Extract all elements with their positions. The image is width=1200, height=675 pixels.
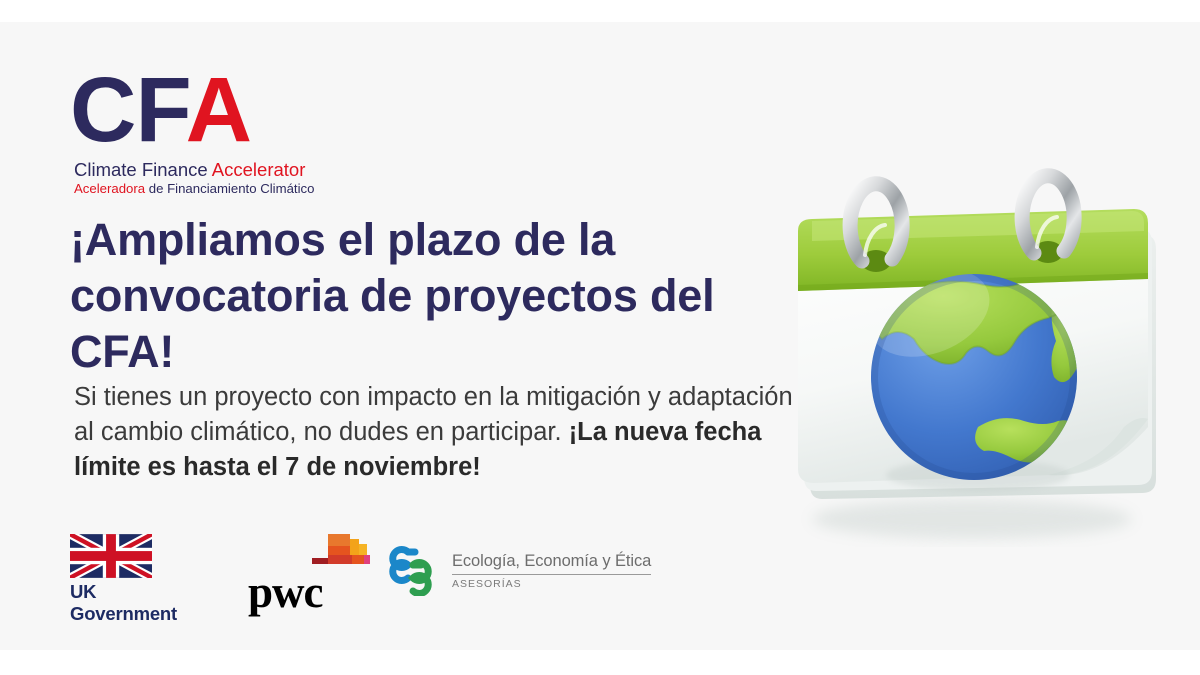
cfa-tagline-english-part1: Climate Finance [74, 159, 212, 180]
cfa-logo-letters: CFA [70, 62, 324, 158]
uk-government-label: UK Government [70, 581, 177, 625]
e3-monogram-icon [388, 544, 440, 596]
logo-uk-government: UK Government [70, 534, 177, 625]
poster-canvas: CFA Climate Finance Accelerator Acelerad… [0, 22, 1200, 650]
logo-e3-asesorias: Ecología, Economía y Ética ASESORÍAS [388, 544, 651, 596]
pwc-blocks-icon [290, 532, 382, 572]
body-paragraph: Si tienes un proyecto con impacto en la … [74, 380, 814, 485]
e3-title: Ecología, Economía y Ética [452, 552, 651, 575]
pwc-wordmark: pwc [248, 570, 382, 615]
cfa-tagline-spanish-part1: Aceleradora [74, 181, 145, 196]
calendar-earth-illustration [752, 127, 1192, 547]
logo-pwc: pwc [248, 532, 382, 615]
cfa-logo: CFA Climate Finance Accelerator Acelerad… [74, 62, 324, 197]
cfa-logo-letters-cf: CF [70, 59, 186, 161]
calendar-earth-icon [752, 127, 1192, 547]
cfa-tagline-english: Climate Finance Accelerator [74, 159, 324, 180]
union-jack-flag-icon [70, 534, 152, 578]
page-title: ¡Ampliamos el plazo de la convocatoria d… [70, 212, 750, 380]
e3-subtitle: ASESORÍAS [452, 578, 651, 590]
cfa-tagline-spanish-part2: de Financiamiento Climático [145, 181, 314, 196]
cfa-tagline-spanish: Aceleradora de Financiamiento Climático [74, 181, 324, 197]
cfa-tagline-english-part2: Accelerator [212, 159, 306, 180]
cfa-logo-letter-a: A [186, 59, 251, 161]
